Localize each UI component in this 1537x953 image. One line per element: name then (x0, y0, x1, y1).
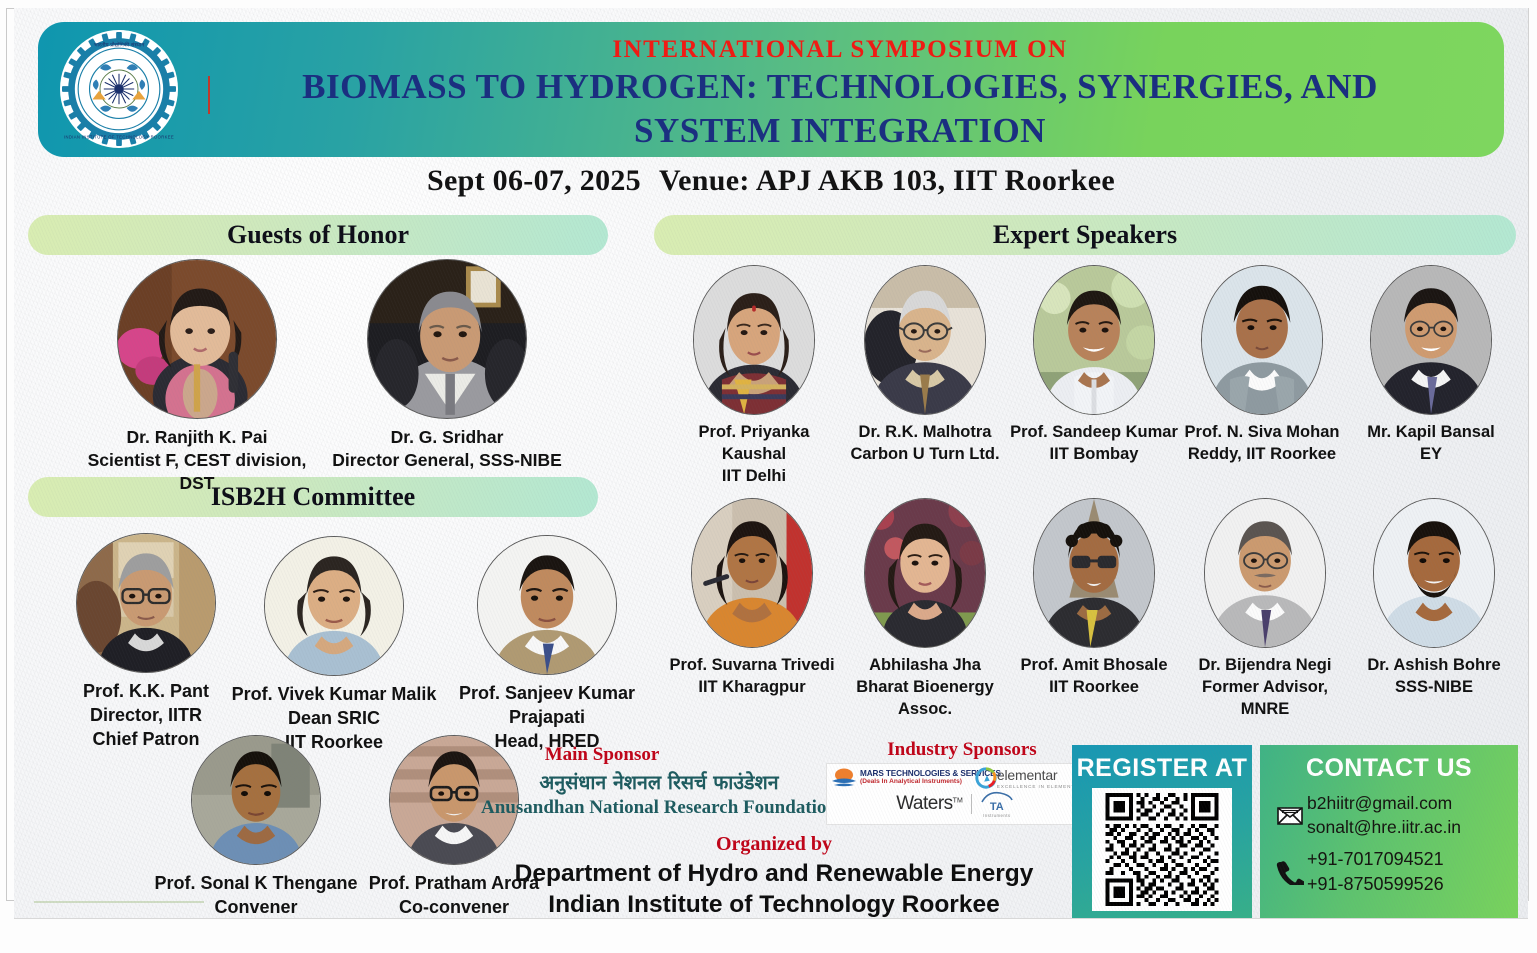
svg-text:भारतीय प्रौद्योगिकी संस्थान: भारतीय प्रौद्योगिकी संस्थान (94, 41, 145, 48)
header-banner: भारतीय प्रौद्योगिकी संस्थान INDIAN INSTI… (38, 22, 1504, 157)
person-name-block: Dr. Ashish Bohre SSS-NIBE (1352, 655, 1516, 699)
symposium-title-line2: SYSTEM INTEGRATION (190, 109, 1490, 152)
person-name-block: Prof. Amit Bhosale IIT Roorkee (1009, 655, 1179, 699)
person-name: Prof. K.K. Pant (42, 680, 250, 704)
person-name-block: Prof. Priyanka Kaushal IIT Delhi (668, 422, 840, 487)
person-name: Prof. N. Siva Mohan (1177, 422, 1347, 444)
contact-phone-2[interactable]: +91-8750599526 (1307, 872, 1444, 897)
organizer-institute: Indian Institute of Technology Roorkee (474, 889, 1074, 918)
person-card: Prof. Priyanka Kaushal IIT Delhi (668, 265, 840, 487)
person-name: Prof. Priyanka Kaushal (668, 422, 840, 466)
person-name-block: Abhilasha Jha Bharat Bioenergy Assoc. (836, 655, 1014, 720)
person-affiliation: Carbon U Turn Ltd. (842, 444, 1008, 466)
svg-text:INDIAN INSTITUTE OF TECHNOLOGY: INDIAN INSTITUTE OF TECHNOLOGY ROORKEE (64, 134, 174, 139)
contact-phones-row: +91-7017094521 +91-8750599526 (1260, 847, 1518, 897)
person-name: Prof. Vivek Kumar Malik (224, 683, 444, 707)
person-affiliation: Former Advisor, MNRE (1177, 677, 1353, 721)
person-card: Prof. K.K. Pant Director, IITR Chief Pat… (42, 533, 250, 751)
person-name-block: Prof. N. Siva Mohan Reddy, IIT Roorkee (1177, 422, 1347, 466)
ta-tagline: Instruments (980, 813, 1014, 818)
person-affiliation: SSS-NIBE (1352, 677, 1516, 699)
person-photo (191, 735, 321, 865)
phone-icon (1273, 859, 1307, 885)
person-card: Dr. Bijendra Negi Former Advisor, MNRE (1177, 498, 1353, 720)
person-photo (76, 533, 216, 673)
person-card: Dr. Ashish Bohre SSS-NIBE (1352, 498, 1516, 699)
organizer-block: Department of Hydro and Renewable Energy… (474, 858, 1074, 918)
main-sponsor-name: अनुसंधान नेशनल रिसर्च फाउंडेशन Anusandha… (474, 770, 844, 821)
poster-canvas: भारतीय प्रौद्योगिकी संस्थान INDIAN INSTI… (0, 0, 1537, 953)
person-affiliation: IIT Bombay (1009, 444, 1179, 466)
person-photo (864, 265, 986, 415)
banner-text-block: INTERNATIONAL SYMPOSIUM ON BIOMASS TO HY… (190, 34, 1490, 152)
person-name-block: Dr. Bijendra Negi Former Advisor, MNRE (1177, 655, 1353, 720)
person-photo (1204, 498, 1326, 648)
section-header-guests-of-honor: Guests of Honor (28, 215, 608, 255)
person-name-block: Dr. Ranjith K. Pai Scientist F, CEST div… (82, 426, 312, 495)
text-cursor-caret (208, 76, 210, 114)
section-title-text: Guests of Honor (227, 220, 409, 250)
person-photo (477, 535, 617, 675)
person-name: Dr. G. Sridhar (332, 426, 562, 449)
person-affiliation: Reddy, IIT Roorkee (1177, 444, 1347, 466)
person-affiliation: IIT Delhi (668, 466, 840, 488)
person-name-block: Dr. R.K. Malhotra Carbon U Turn Ltd. (842, 422, 1008, 466)
person-name-cont: Prajapati (439, 706, 655, 730)
person-name: Dr. Bijendra Negi (1177, 655, 1353, 677)
industry-sponsors-label: Industry Sponsors (852, 739, 1072, 761)
person-name-block: Prof. Sandeep Kumar IIT Bombay (1009, 422, 1179, 466)
waters-trademark: TM (953, 798, 963, 805)
elementar-logo: elementar EXCELLENCE IN ELEMENTS (975, 767, 1079, 789)
iit-roorkee-logo-icon: भारतीय प्रौद्योगिकी संस्थान INDIAN INSTI… (60, 30, 178, 148)
person-affiliation: Dean SRIC (224, 707, 444, 731)
logo-divider (971, 794, 972, 814)
person-affiliation: Bharat Bioenergy Assoc. (836, 677, 1014, 721)
person-photo (1201, 265, 1323, 415)
person-photo (864, 498, 986, 648)
contact-email-2[interactable]: sonalt@hre.iitr.ac.in (1307, 815, 1461, 839)
person-name: Dr. R.K. Malhotra (842, 422, 1008, 444)
elementar-tagline: EXCELLENCE IN ELEMENTS (997, 784, 1079, 789)
waters-logo: WatersTM (896, 793, 963, 815)
frame-tick-top-left (6, 8, 14, 9)
person-affiliation: IIT Roorkee (1009, 677, 1179, 699)
person-card: Prof. N. Siva Mohan Reddy, IIT Roorkee (1177, 265, 1347, 466)
person-card: Abhilasha Jha Bharat Bioenergy Assoc. (836, 498, 1014, 720)
person-name: Prof. Sanjeev Kumar (439, 682, 655, 706)
contact-emails-row: b2hiitr@gmail.com sonalt@hre.iitr.ac.in (1260, 791, 1518, 839)
registration-qr-code[interactable] (1092, 788, 1232, 911)
symposium-kicker: INTERNATIONAL SYMPOSIUM ON (190, 34, 1490, 65)
person-affiliation: Scientist F, CEST division, DST (82, 449, 312, 495)
person-name: Dr. Ashish Bohre (1352, 655, 1516, 677)
person-card: Mr. Kapil Bansal EY (1346, 265, 1516, 466)
main-sponsor-label: Main Sponsor (492, 744, 712, 766)
person-card: Prof. Vivek Kumar Malik Dean SRIC IIT Ro… (224, 536, 444, 754)
frame-bottom-rule (14, 918, 1528, 919)
main-sponsor-name-hindi: अनुसंधान नेशनल रिसर्च फाउंडेशन (474, 770, 844, 796)
waters-ta-logos: WatersTM TA Instruments (827, 790, 1083, 818)
elementar-mark-icon (975, 767, 997, 789)
person-name: Dr. Ranjith K. Pai (82, 426, 312, 449)
register-title: REGISTER AT (1072, 745, 1252, 783)
person-name: Abhilasha Jha (836, 655, 1014, 677)
person-card: Prof. Sandeep Kumar IIT Bombay (1009, 265, 1179, 466)
contact-email-1[interactable]: b2hiitr@gmail.com (1307, 791, 1461, 815)
industry-sponsor-logos: MARS TECHNOLOGIES & SERVICES (Deals In A… (826, 763, 1084, 825)
person-card: Dr. Ranjith K. Pai Scientist F, CEST div… (82, 259, 312, 495)
person-affiliation: EY (1346, 444, 1516, 466)
person-name-block: Dr. G. Sridhar Director General, SSS-NIB… (332, 426, 562, 472)
ta-instruments-logo: TA Instruments (980, 790, 1014, 818)
person-name: Prof. Sandeep Kumar (1009, 422, 1179, 444)
frame-right-rule (1528, 8, 1529, 901)
person-affiliation: Director General, SSS-NIBE (332, 449, 562, 472)
person-card: Prof. Amit Bhosale IIT Roorkee (1009, 498, 1179, 699)
waters-name: Waters (896, 793, 952, 814)
frame-tick-bottom-left (6, 900, 14, 901)
person-card: Dr. R.K. Malhotra Carbon U Turn Ltd. (842, 265, 1008, 466)
person-card: Dr. G. Sridhar Director General, SSS-NIB… (332, 259, 562, 472)
register-panel[interactable]: REGISTER AT (1072, 745, 1252, 918)
person-photo (367, 259, 527, 419)
contact-panel: CONTACT US b2hiitr@gmail.com (1260, 745, 1518, 918)
frame-left-rule (6, 8, 7, 901)
person-photo (117, 259, 277, 419)
section-header-expert-speakers: Expert Speakers (654, 215, 1516, 255)
person-card: Prof. Sanjeev Kumar Prajapati Head, HRED (439, 535, 655, 753)
person-photo (264, 536, 404, 676)
email-icon (1273, 803, 1307, 827)
person-photo (1373, 498, 1495, 648)
person-name: Mr. Kapil Bansal (1346, 422, 1516, 444)
organized-by-label: Organized by (494, 833, 1054, 856)
person-name: Prof. Amit Bhosale (1009, 655, 1179, 677)
contact-phone-list[interactable]: +91-7017094521 +91-8750599526 (1307, 847, 1444, 897)
person-name-block: Prof. Suvarna Trivedi IIT Kharagpur (666, 655, 838, 699)
poster-body: भारतीय प्रौद्योगिकी संस्थान INDIAN INSTI… (14, 8, 1528, 918)
person-photo (691, 498, 813, 648)
poster-bottom-accent (34, 901, 204, 903)
person-name: Prof. Suvarna Trivedi (666, 655, 838, 677)
contact-email-list[interactable]: b2hiitr@gmail.com sonalt@hre.iitr.ac.in (1307, 791, 1461, 839)
person-photo (1370, 265, 1492, 415)
person-photo (1033, 498, 1155, 648)
section-title-text: Expert Speakers (993, 220, 1177, 250)
person-card: Prof. Suvarna Trivedi IIT Kharagpur (666, 498, 838, 699)
person-photo (1033, 265, 1155, 415)
mars-sun-icon (831, 767, 857, 787)
contact-title: CONTACT US (1260, 745, 1518, 783)
main-sponsor-name-english: Anusandhan National Research Foundation (474, 796, 844, 821)
person-affiliation: IIT Kharagpur (666, 677, 838, 699)
elementar-name: elementar (997, 767, 1079, 783)
contact-phone-1[interactable]: +91-7017094521 (1307, 847, 1444, 872)
person-photo (693, 265, 815, 415)
person-affiliation: Director, IITR (42, 704, 250, 728)
event-venue: Venue: APJ AKB 103, IIT Roorkee (659, 164, 1115, 197)
organizer-department: Department of Hydro and Renewable Energy (474, 858, 1074, 889)
symposium-title-line1: BIOMASS TO HYDROGEN: TECHNOLOGIES, SYNER… (190, 65, 1490, 108)
event-dates: Sept 06-07, 2025 (427, 164, 641, 197)
date-venue-line: Sept 06-07, 2025Venue: APJ AKB 103, IIT … (14, 164, 1528, 198)
person-name-block: Mr. Kapil Bansal EY (1346, 422, 1516, 466)
